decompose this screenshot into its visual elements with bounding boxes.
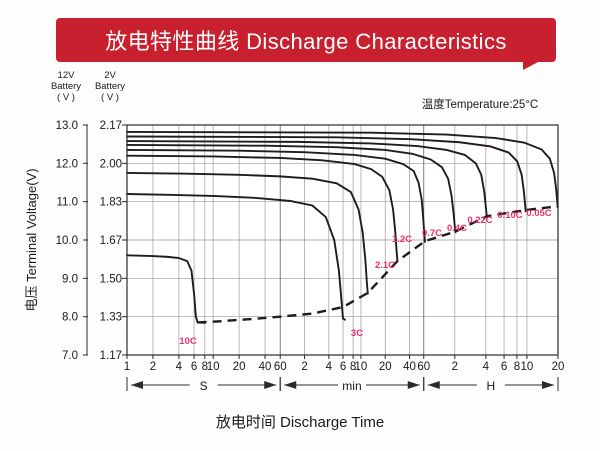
arrow-left-icon — [284, 381, 296, 389]
y-tick-label-2v: 1.17 — [100, 350, 122, 362]
x-tick-label: 2 — [150, 361, 156, 373]
rate-label-0p05C: 0.05C — [526, 208, 551, 219]
page-title: 放电特性曲线 Discharge Characteristics — [56, 18, 556, 62]
x-tick-label: 2 — [452, 361, 458, 373]
x-tick-label: 4 — [326, 361, 333, 373]
rate-label-3C: 3C — [351, 328, 363, 339]
x-axis-title: 放电时间 Discharge Time — [216, 414, 384, 431]
rate-label-10C: 10C — [179, 336, 197, 347]
arrow-left-icon — [131, 381, 143, 389]
x-tick-label: 60 — [417, 361, 430, 373]
x-tick-label: 10 — [355, 361, 368, 373]
x-unit-label-min: min — [342, 379, 361, 393]
x-tick-label: 40 — [259, 361, 272, 373]
temperature-annotation: 温度Temperature:25°C — [422, 97, 538, 111]
arrow-right-icon — [408, 381, 420, 389]
y-tick-label-2v: 2.17 — [100, 120, 122, 132]
y-tick-label-2v: 2.00 — [100, 158, 122, 170]
chart-area: 13.02.1712.02.0011.01.8310.01.679.01.508… — [0, 64, 600, 451]
title-banner: 放电特性曲线 Discharge Characteristics — [56, 18, 556, 64]
x-tick-label: 4 — [176, 361, 183, 373]
x-tick-label: 6 — [191, 361, 197, 373]
rate-label-1p2C: 1.2C — [392, 234, 412, 245]
y-tick-label-2v: 1.50 — [100, 273, 122, 285]
x-tick-label: 4 — [483, 361, 490, 373]
x-tick-label: 40 — [403, 361, 416, 373]
y-axis-title: 电压 Terminal Voltage(V) — [24, 168, 39, 311]
y-tick-label-12v: 7.0 — [62, 350, 78, 362]
y-tick-label-12v: 12.0 — [56, 158, 78, 170]
rate-label-0p4C: 0.4C — [447, 223, 467, 234]
y-header-12v: Battery — [51, 81, 81, 92]
arrow-left-icon — [428, 381, 440, 389]
y-tick-label-12v: 8.0 — [62, 312, 78, 324]
y-tick-label-12v: 11.0 — [56, 197, 78, 209]
x-tick-label: 2 — [301, 361, 307, 373]
rate-label-0p22C: 0.22C — [467, 215, 492, 226]
x-tick-label: 20 — [379, 361, 392, 373]
y-tick-label-12v: 9.0 — [62, 273, 78, 285]
y-tick-label-12v: 10.0 — [56, 235, 78, 247]
y-tick-label-2v: 1.33 — [100, 312, 122, 324]
x-tick-label: 10 — [207, 361, 220, 373]
x-tick-label: 20 — [233, 361, 246, 373]
x-tick-label: 6 — [340, 361, 346, 373]
x-unit-label-H: H — [487, 379, 496, 393]
x-tick-label: 8 — [514, 361, 520, 373]
rate-label-0p10C: 0.10C — [497, 210, 522, 221]
y-tick-label-2v: 1.67 — [100, 235, 122, 247]
discharge-characteristics-figure: 放电特性曲线 Discharge Characteristics 13.02.1… — [0, 0, 600, 451]
y-header-2v: Battery — [95, 81, 125, 92]
y-header-12v: ( V ) — [57, 92, 75, 103]
y-tick-label-12v: 13.0 — [56, 120, 78, 132]
y-header-12v: 12V — [58, 70, 76, 81]
x-tick-label: 10 — [521, 361, 534, 373]
y-header-2v: ( V ) — [101, 92, 119, 103]
rate-label-0p7C: 0.7C — [422, 228, 442, 239]
x-tick-label: 1 — [124, 361, 130, 373]
y-tick-label-2v: 1.83 — [100, 197, 122, 209]
y-header-2v: 2V — [104, 70, 116, 81]
x-tick-label: 6 — [501, 361, 507, 373]
arrow-right-icon — [542, 381, 554, 389]
x-tick-label: 20 — [552, 361, 565, 373]
discharge-chart-svg: 13.02.1712.02.0011.01.8310.01.679.01.508… — [0, 64, 600, 451]
x-unit-label-S: S — [200, 379, 208, 393]
arrow-right-icon — [264, 381, 276, 389]
x-tick-label: 60 — [274, 361, 287, 373]
rate-label-2p1C: 2.1C — [375, 260, 395, 271]
